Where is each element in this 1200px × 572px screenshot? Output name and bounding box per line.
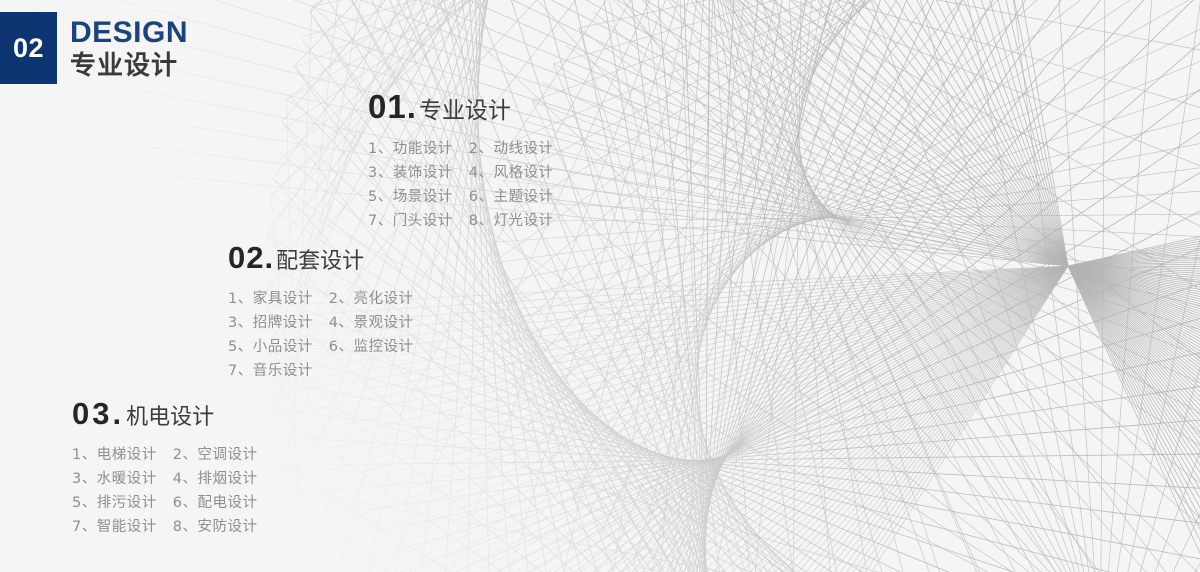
list-item: 1、功能设计 xyxy=(368,140,453,158)
section-item-list-01: 1、功能设计 2、动线设计 3、装饰设计 4、风格设计 5、场景设计 6、主题设… xyxy=(368,140,553,231)
slide-canvas: 02 DESIGN 专业设计 01. 专业设计 1、功能设计 2、动线设计 3、… xyxy=(0,0,1200,572)
section-heading-02: 02. 配套设计 xyxy=(228,240,413,276)
list-item: 4、排烟设计 xyxy=(173,470,258,488)
list-item: 3、装饰设计 xyxy=(368,164,453,182)
list-item: 2、动线设计 xyxy=(469,140,554,158)
list-item: 4、景观设计 xyxy=(329,314,414,332)
section-title-01: 专业设计 xyxy=(419,91,511,125)
header-title-chinese: 专业设计 xyxy=(70,53,188,79)
list-item: 8、灯光设计 xyxy=(469,212,554,230)
list-item: 5、场景设计 xyxy=(368,188,453,206)
list-item: 5、排污设计 xyxy=(72,494,157,512)
list-item: 1、家具设计 xyxy=(228,290,313,308)
section-block-03: 03. 机电设计 1、电梯设计 2、空调设计 3、水暖设计 4、排烟设计 5、排… xyxy=(72,396,257,537)
section-block-02: 02. 配套设计 1、家具设计 2、亮化设计 3、招牌设计 4、景观设计 5、小… xyxy=(228,240,413,381)
section-number-03: 03. xyxy=(72,396,124,432)
section-heading-03: 03. 机电设计 xyxy=(72,396,257,432)
list-item: 3、招牌设计 xyxy=(228,314,313,332)
header-title-english: DESIGN xyxy=(70,18,188,48)
list-item: 7、音乐设计 xyxy=(228,362,313,380)
section-badge-number: 02 xyxy=(0,12,57,84)
list-item: 8、安防设计 xyxy=(173,518,258,536)
section-block-01: 01. 专业设计 1、功能设计 2、动线设计 3、装饰设计 4、风格设计 5、场… xyxy=(368,88,553,231)
header-title-group: DESIGN 专业设计 xyxy=(70,12,188,84)
list-item: 6、主题设计 xyxy=(469,188,554,206)
section-title-02: 配套设计 xyxy=(276,243,364,275)
list-item: 5、小品设计 xyxy=(228,338,313,356)
list-item: 2、空调设计 xyxy=(173,446,258,464)
section-title-03: 机电设计 xyxy=(126,399,214,431)
section-number-02: 02. xyxy=(228,240,274,276)
list-item: 7、门头设计 xyxy=(368,212,453,230)
list-item: 6、监控设计 xyxy=(329,338,414,356)
section-number-01: 01. xyxy=(368,88,417,126)
list-item: 4、风格设计 xyxy=(469,164,554,182)
section-item-list-03: 1、电梯设计 2、空调设计 3、水暖设计 4、排烟设计 5、排污设计 6、配电设… xyxy=(72,446,257,537)
section-item-list-02: 1、家具设计 2、亮化设计 3、招牌设计 4、景观设计 5、小品设计 6、监控设… xyxy=(228,290,413,381)
list-item: 1、电梯设计 xyxy=(72,446,157,464)
list-item: 7、智能设计 xyxy=(72,518,157,536)
list-item: 6、配电设计 xyxy=(173,494,258,512)
list-item: 2、亮化设计 xyxy=(329,290,414,308)
section-heading-01: 01. 专业设计 xyxy=(368,88,553,126)
slide-header: 02 DESIGN 专业设计 xyxy=(0,12,188,84)
list-item: 3、水暖设计 xyxy=(72,470,157,488)
